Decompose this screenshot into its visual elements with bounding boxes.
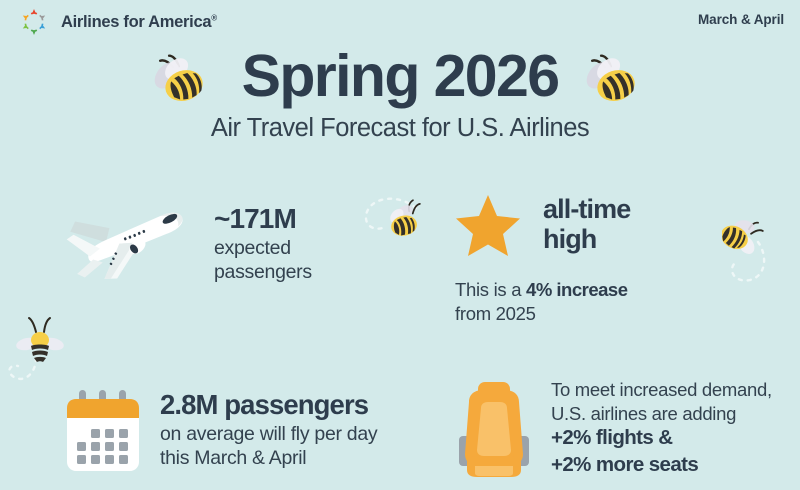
bee-left-edge-icon xyxy=(2,296,88,395)
expected-passengers-description: expected passengers xyxy=(214,236,392,284)
title-block: Spring 2026 Air Travel Forecast for U.S.… xyxy=(0,46,800,143)
daily-passengers-description: on average will fly per day this March &… xyxy=(160,422,422,470)
stat-daily-passengers: 2.8M passengers on average will fly per … xyxy=(62,388,422,479)
airplane-seat-icon xyxy=(455,378,533,487)
brand-name-text: Airlines for America xyxy=(61,13,211,31)
daily-passengers-value: 2.8M passengers xyxy=(160,390,422,420)
all-time-high-line2: high xyxy=(543,224,596,254)
capacity-line3: +2% flights & xyxy=(551,425,775,451)
expected-passengers-line1: expected xyxy=(214,237,291,259)
stat-all-time-high-text: all-time high xyxy=(521,193,755,254)
stat-added-capacity-text: To meet increased demand, U.S. airlines … xyxy=(533,378,775,478)
infographic-poster: Airlines for America® March & April Spri… xyxy=(0,0,800,490)
stat-daily-passengers-text: 2.8M passengers on average will fly per … xyxy=(144,388,422,470)
header-bar: Airlines for America® March & April xyxy=(0,0,800,44)
star-icon xyxy=(455,193,521,262)
registered-trademark-mark: ® xyxy=(211,13,217,22)
capacity-line4: +2% more seats xyxy=(551,452,775,478)
capacity-line1: To meet increased demand, xyxy=(551,378,775,402)
all-time-high-value: all-time high xyxy=(543,194,755,254)
stat-added-capacity: To meet increased demand, U.S. airlines … xyxy=(455,378,775,487)
all-time-high-note: This is a 4% increasefrom 2025 xyxy=(455,278,775,326)
page-title: Spring 2026 xyxy=(0,46,800,107)
increase-note-strong: 4% increase xyxy=(526,279,627,300)
all-time-high-line1: all-time xyxy=(543,194,630,224)
brand-name: Airlines for America® xyxy=(61,13,217,32)
stat-expected-passengers-text: ~171M expected passengers xyxy=(197,192,392,285)
expected-passengers-value: ~171M xyxy=(214,204,392,234)
stat-expected-passengers: ~171M expected passengers xyxy=(62,192,392,289)
airplane-icon xyxy=(62,192,197,289)
stat-all-time-high: all-time high xyxy=(455,193,755,262)
airlines-for-america-pinwheel-logo-icon xyxy=(16,4,52,40)
page-subtitle: Air Travel Forecast for U.S. Airlines xyxy=(0,114,800,143)
brand-lockup[interactable]: Airlines for America® xyxy=(16,4,217,40)
daily-passengers-line2: this March & April xyxy=(160,447,306,469)
capacity-line2: U.S. airlines are adding xyxy=(551,402,775,426)
increase-note-prefix: This is a xyxy=(455,279,526,300)
daily-passengers-line1: on average will fly per day xyxy=(160,423,377,445)
period-label: March & April xyxy=(698,12,784,27)
expected-passengers-line2: passengers xyxy=(214,261,312,283)
calendar-icon xyxy=(62,388,144,479)
increase-note-suffix: from 2025 xyxy=(455,303,536,324)
